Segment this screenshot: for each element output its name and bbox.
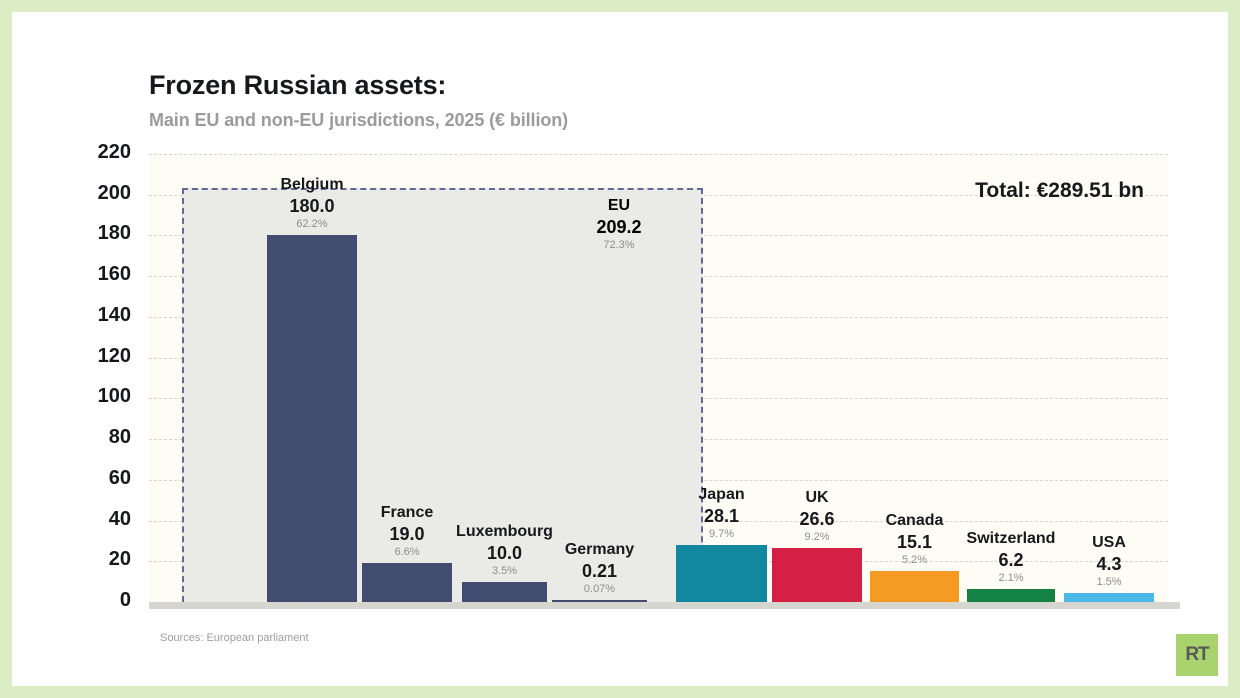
bar-label-belgium: Belgium180.062.2%	[242, 175, 382, 231]
eu-group-name: EU	[539, 196, 699, 216]
bar-germany[interactable]	[552, 600, 647, 602]
y-tick-label-200: 200	[71, 182, 131, 205]
bar-pct-belgium: 62.2%	[242, 217, 382, 231]
y-tick-label-80: 80	[71, 426, 131, 449]
page-background: Frozen Russian assets: Main EU and non-E…	[0, 0, 1240, 698]
rt-logo: RT	[1176, 634, 1218, 676]
y-tick-label-160: 160	[71, 263, 131, 286]
bar-value-germany: 0.21	[527, 560, 672, 582]
bar-name-luxembourg: Luxembourg	[437, 522, 572, 542]
bar-name-canada: Canada	[845, 511, 984, 531]
rt-logo-text: RT	[1185, 644, 1208, 666]
sources-note: Sources: European parliament	[160, 632, 309, 644]
bar-label-germany: Germany0.210.07%	[527, 540, 672, 596]
eu-group-value: 209.2	[539, 216, 699, 238]
y-tick-label-120: 120	[71, 345, 131, 368]
bar-name-usa: USA	[1039, 533, 1179, 553]
bar-switzerland[interactable]	[967, 589, 1055, 602]
bar-name-uk: UK	[747, 488, 887, 508]
page-subtitle: Main EU and non-EU jurisdictions, 2025 (…	[149, 110, 568, 131]
eu-group-label: EU 209.2 72.3%	[539, 196, 699, 252]
bar-name-germany: Germany	[527, 540, 672, 560]
bar-usa[interactable]	[1064, 593, 1154, 602]
total-annotation: Total: €289.51 bn	[975, 179, 1144, 203]
bar-value-usa: 4.3	[1039, 553, 1179, 575]
y-tick-label-100: 100	[71, 385, 131, 408]
gridline-0	[149, 602, 1168, 603]
bar-value-belgium: 180.0	[242, 195, 382, 217]
y-tick-label-60: 60	[71, 467, 131, 490]
eu-group-pct: 72.3%	[539, 238, 699, 252]
bar-name-france: France	[337, 503, 477, 523]
bar-japan[interactable]	[676, 545, 767, 602]
bar-pct-usa: 1.5%	[1039, 575, 1179, 589]
x-axis-spine	[149, 602, 1180, 609]
gridline-220	[149, 154, 1168, 155]
y-tick-label-140: 140	[71, 304, 131, 327]
bar-label-usa: USA4.31.5%	[1039, 533, 1179, 589]
y-tick-label-20: 20	[71, 548, 131, 571]
chart-plot-area: EU 209.2 72.3% Total: €289.51 bn Belgium…	[149, 154, 1168, 602]
y-tick-label-0: 0	[71, 589, 131, 612]
bar-name-belgium: Belgium	[242, 175, 382, 195]
bar-pct-germany: 0.07%	[527, 582, 672, 596]
y-tick-label-220: 220	[71, 141, 131, 164]
page-title: Frozen Russian assets:	[149, 70, 446, 101]
infographic-card: Frozen Russian assets: Main EU and non-E…	[12, 12, 1228, 686]
y-tick-label-180: 180	[71, 222, 131, 245]
y-tick-label-40: 40	[71, 508, 131, 531]
